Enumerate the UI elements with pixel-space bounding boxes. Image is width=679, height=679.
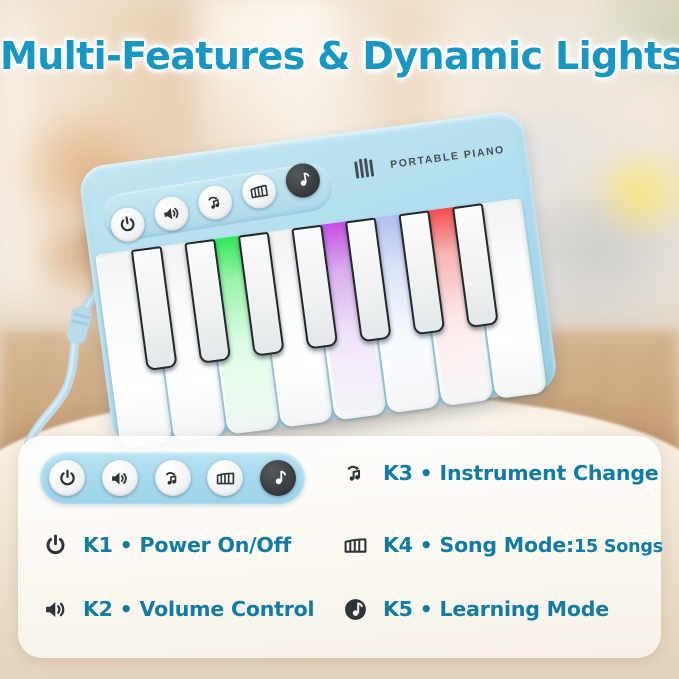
brand-mark: PORTABLE PIANO <box>354 140 506 179</box>
volume-icon[interactable] <box>102 460 138 496</box>
music-note-icon[interactable] <box>260 460 296 496</box>
music-note-icon[interactable] <box>283 161 322 200</box>
legend-label-k2: K2 • Volume Control <box>83 597 314 621</box>
legend-panel: K3 • Instrument Change K1 • Power On/Off… <box>18 436 661 658</box>
piano-keys-icon[interactable] <box>207 460 243 496</box>
power-icon[interactable] <box>49 460 85 496</box>
volume-icon <box>40 594 70 624</box>
power-icon[interactable] <box>108 205 147 244</box>
background-pillow <box>585 135 679 255</box>
instrument-change-icon[interactable] <box>155 460 191 496</box>
device-body: PORTABLE PIANO <box>78 109 559 448</box>
legend-row-k2: K2 • Volume Control <box>40 594 314 624</box>
power-icon <box>40 530 70 560</box>
legend-label-k4: K4 • Song Mode:15 Songs <box>383 533 663 557</box>
page-title: Multi-Features & Dynamic Lights <box>0 34 679 78</box>
piano-keys-icon <box>354 157 375 178</box>
legend-label-k3: K3 • Instrument Change <box>383 461 659 485</box>
portable-piano-device: PORTABLE PIANO <box>78 106 585 475</box>
legend-row-k3: K3 • Instrument Change <box>340 458 659 488</box>
volume-icon[interactable] <box>152 194 191 233</box>
legend-label-k5: K5 • Learning Mode <box>383 597 609 621</box>
legend-row-k5: K5 • Learning Mode <box>340 594 609 624</box>
brand-label: PORTABLE PIANO <box>389 143 505 170</box>
legend-row-k1: K1 • Power On/Off <box>40 530 291 560</box>
instrument-change-icon <box>340 458 370 488</box>
piano-keys-icon <box>340 530 370 560</box>
legend-row-k4: K4 • Song Mode:15 Songs <box>340 530 663 560</box>
music-note-icon <box>340 594 370 624</box>
instrument-change-icon[interactable] <box>196 183 235 222</box>
button-cluster <box>40 452 305 504</box>
piano-keys-icon[interactable] <box>240 172 279 211</box>
legend-label-k1: K1 • Power On/Off <box>83 533 291 557</box>
product-feature-image: Multi-Features & Dynamic Lights PORTABLE… <box>0 0 679 679</box>
